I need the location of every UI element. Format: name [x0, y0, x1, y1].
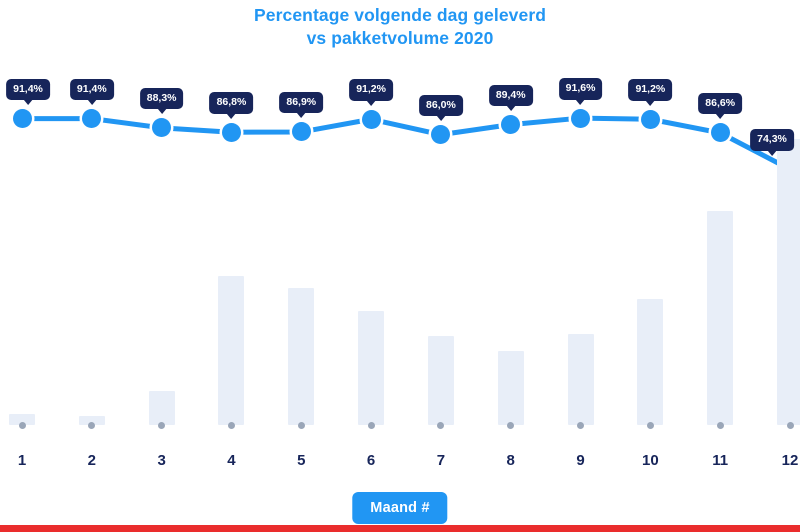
- value-callout-month-1: 91,4%: [6, 79, 50, 101]
- baseline-dot-month-3: [158, 422, 165, 429]
- x-tick-label-3: 3: [157, 452, 165, 469]
- bar-volume-month-7: [428, 336, 454, 425]
- value-callout-month-7: 86,0%: [419, 95, 463, 117]
- line-marker-month-11: [711, 123, 730, 142]
- bottom-accent-strip: [0, 525, 800, 532]
- value-callout-month-8: 89,4%: [489, 85, 533, 107]
- line-marker-month-3: [152, 118, 171, 137]
- value-callout-month-10: 91,2%: [628, 79, 672, 101]
- x-axis-title-pill: Maand #: [352, 492, 447, 524]
- chart-title-line-1: Percentage volgende dag geleverd: [254, 5, 546, 25]
- value-callout-month-2: 91,4%: [70, 79, 114, 101]
- x-tick-label-2: 2: [88, 452, 96, 469]
- value-callout-month-3: 88,3%: [140, 88, 184, 110]
- line-marker-month-6: [362, 110, 381, 129]
- value-callout-month-9: 91,6%: [559, 78, 603, 100]
- line-marker-month-5: [292, 122, 311, 141]
- bar-volume-month-11: [707, 211, 733, 425]
- bar-volume-month-3: [149, 391, 175, 425]
- bar-volume-month-9: [568, 334, 594, 425]
- value-callout-month-6: 91,2%: [349, 79, 393, 101]
- value-callout-month-11: 86,6%: [698, 93, 742, 115]
- baseline-dot-month-7: [437, 422, 444, 429]
- baseline-dot-month-11: [717, 422, 724, 429]
- bar-volume-month-6: [358, 311, 384, 425]
- baseline-dot-month-6: [368, 422, 375, 429]
- x-tick-label-8: 8: [507, 452, 515, 469]
- trend-line-path: [22, 118, 790, 169]
- x-tick-label-12: 12: [782, 452, 799, 469]
- line-marker-month-4: [222, 123, 241, 142]
- bar-volume-month-8: [498, 351, 524, 425]
- line-marker-month-9: [571, 109, 590, 128]
- baseline-dot-month-1: [19, 422, 26, 429]
- line-marker-month-10: [641, 110, 660, 129]
- baseline-dot-month-12: [787, 422, 794, 429]
- bar-volume-month-10: [637, 299, 663, 425]
- x-tick-label-1: 1: [18, 452, 26, 469]
- bar-volume-month-12: [777, 139, 800, 425]
- value-callout-month-4: 86,8%: [210, 92, 254, 114]
- x-tick-label-11: 11: [712, 452, 728, 469]
- line-marker-month-2: [82, 109, 101, 128]
- plot-area: [0, 60, 800, 430]
- baseline-dot-month-2: [88, 422, 95, 429]
- baseline-dot-month-9: [577, 422, 584, 429]
- x-tick-label-6: 6: [367, 452, 375, 469]
- baseline-dot-month-5: [298, 422, 305, 429]
- chart-title-line-2: vs pakketvolume 2020: [0, 27, 800, 50]
- x-tick-label-4: 4: [227, 452, 235, 469]
- chart-title: Percentage volgende dag geleverd vs pakk…: [0, 4, 800, 50]
- value-callout-month-12: 74,3%: [750, 129, 794, 151]
- line-marker-month-7: [431, 125, 450, 144]
- baseline-dot-month-10: [647, 422, 654, 429]
- value-callout-month-5: 86,9%: [279, 92, 323, 114]
- baseline-dot-month-4: [228, 422, 235, 429]
- trend-line-svg: [0, 60, 800, 430]
- bar-volume-month-4: [218, 276, 244, 425]
- x-tick-label-7: 7: [437, 452, 445, 469]
- x-axis-tick-labels: 123456789101112: [0, 452, 800, 474]
- line-marker-month-8: [501, 115, 520, 134]
- line-marker-month-1: [13, 109, 32, 128]
- bar-volume-month-5: [288, 288, 314, 425]
- chart-canvas: Percentage volgende dag geleverd vs pakk…: [0, 0, 800, 532]
- baseline-dot-month-8: [507, 422, 514, 429]
- line-series-layer: [0, 60, 800, 430]
- x-tick-label-10: 10: [642, 452, 659, 469]
- x-tick-label-5: 5: [297, 452, 305, 469]
- x-tick-label-9: 9: [576, 452, 584, 469]
